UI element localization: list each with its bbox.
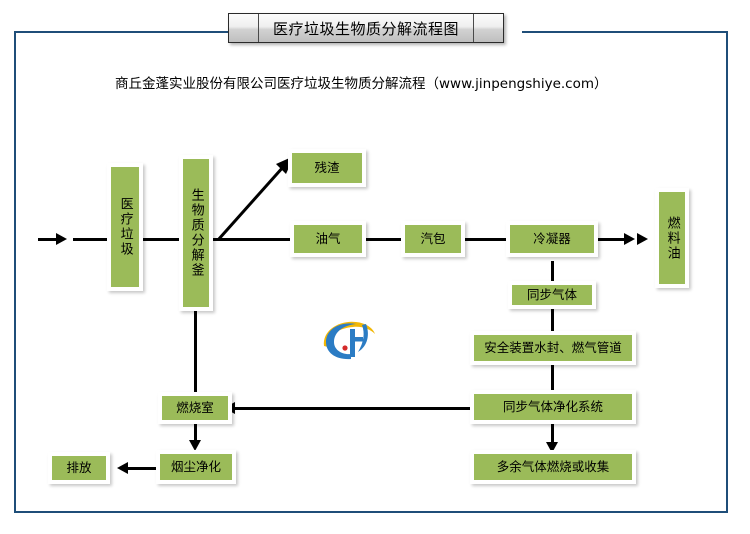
tab-left-segment — [229, 14, 259, 42]
node-sync-gas[interactable]: 同步气体 — [508, 281, 596, 309]
connector-purification-to-combustion — [235, 407, 470, 410]
node-combustion-chamber[interactable]: 燃烧室 — [158, 392, 232, 424]
connector-steamdrum-to-condenser — [464, 238, 506, 241]
node-fuel-oil[interactable]: 燃料油 — [655, 188, 689, 288]
node-excess-gas[interactable]: 多余气体燃烧或收集 — [470, 450, 636, 484]
connector-condenser-to-syncgas — [551, 261, 554, 281]
connector-syncgas-to-safety — [551, 308, 554, 331]
arrow-fueloil-head-a — [624, 233, 635, 245]
node-gas-purification[interactable]: 同步气体净化系统 — [470, 390, 636, 424]
arrow-emission-head — [117, 462, 128, 474]
diagram-subtitle: 商丘金蓬实业股份有限公司医疗垃圾生物质分解流程（www.jinpengshiye… — [115, 72, 608, 92]
connector-input-segment-a — [38, 238, 58, 241]
jinpeng-company-logo — [320, 316, 378, 362]
logo-svg — [320, 316, 378, 362]
arrow-input-head — [56, 233, 67, 245]
node-emission[interactable]: 排放 — [48, 452, 110, 484]
tab-right-segment — [473, 14, 503, 42]
flowchart-page: 医疗垃圾生物质分解流程图 商丘金蓬实业股份有限公司医疗垃圾生物质分解流程（www… — [0, 0, 750, 534]
connector-condenser-to-fueloil — [598, 238, 626, 241]
connector-safety-to-purification — [551, 364, 554, 390]
diagram-title-text: 医疗垃圾生物质分解流程图 — [259, 14, 473, 42]
diagram-title-tab: 医疗垃圾生物质分解流程图 — [228, 13, 504, 43]
connector-kettle-to-residue — [210, 150, 300, 245]
node-steam-drum[interactable]: 汽包 — [401, 221, 465, 257]
connector-dust-to-emission — [128, 467, 158, 470]
node-residue[interactable]: 残渣 — [288, 149, 366, 187]
node-medical-waste[interactable]: 医疗垃圾 — [107, 163, 143, 291]
node-dust-purification[interactable]: 烟尘净化 — [156, 450, 236, 484]
node-biomass-kettle[interactable]: 生物质分解釜 — [179, 155, 213, 311]
node-safety-seal[interactable]: 安全装置水封、燃气管道 — [470, 331, 636, 365]
node-condenser[interactable]: 冷凝器 — [506, 221, 598, 257]
connector-oilgas-to-steamdrum — [366, 238, 402, 241]
diagonal-arrow-svg — [210, 150, 300, 245]
arrow-fueloil-head-b — [637, 233, 648, 245]
node-oil-gas[interactable]: 油气 — [290, 221, 366, 257]
connector-kettle-to-combustion — [194, 310, 197, 392]
